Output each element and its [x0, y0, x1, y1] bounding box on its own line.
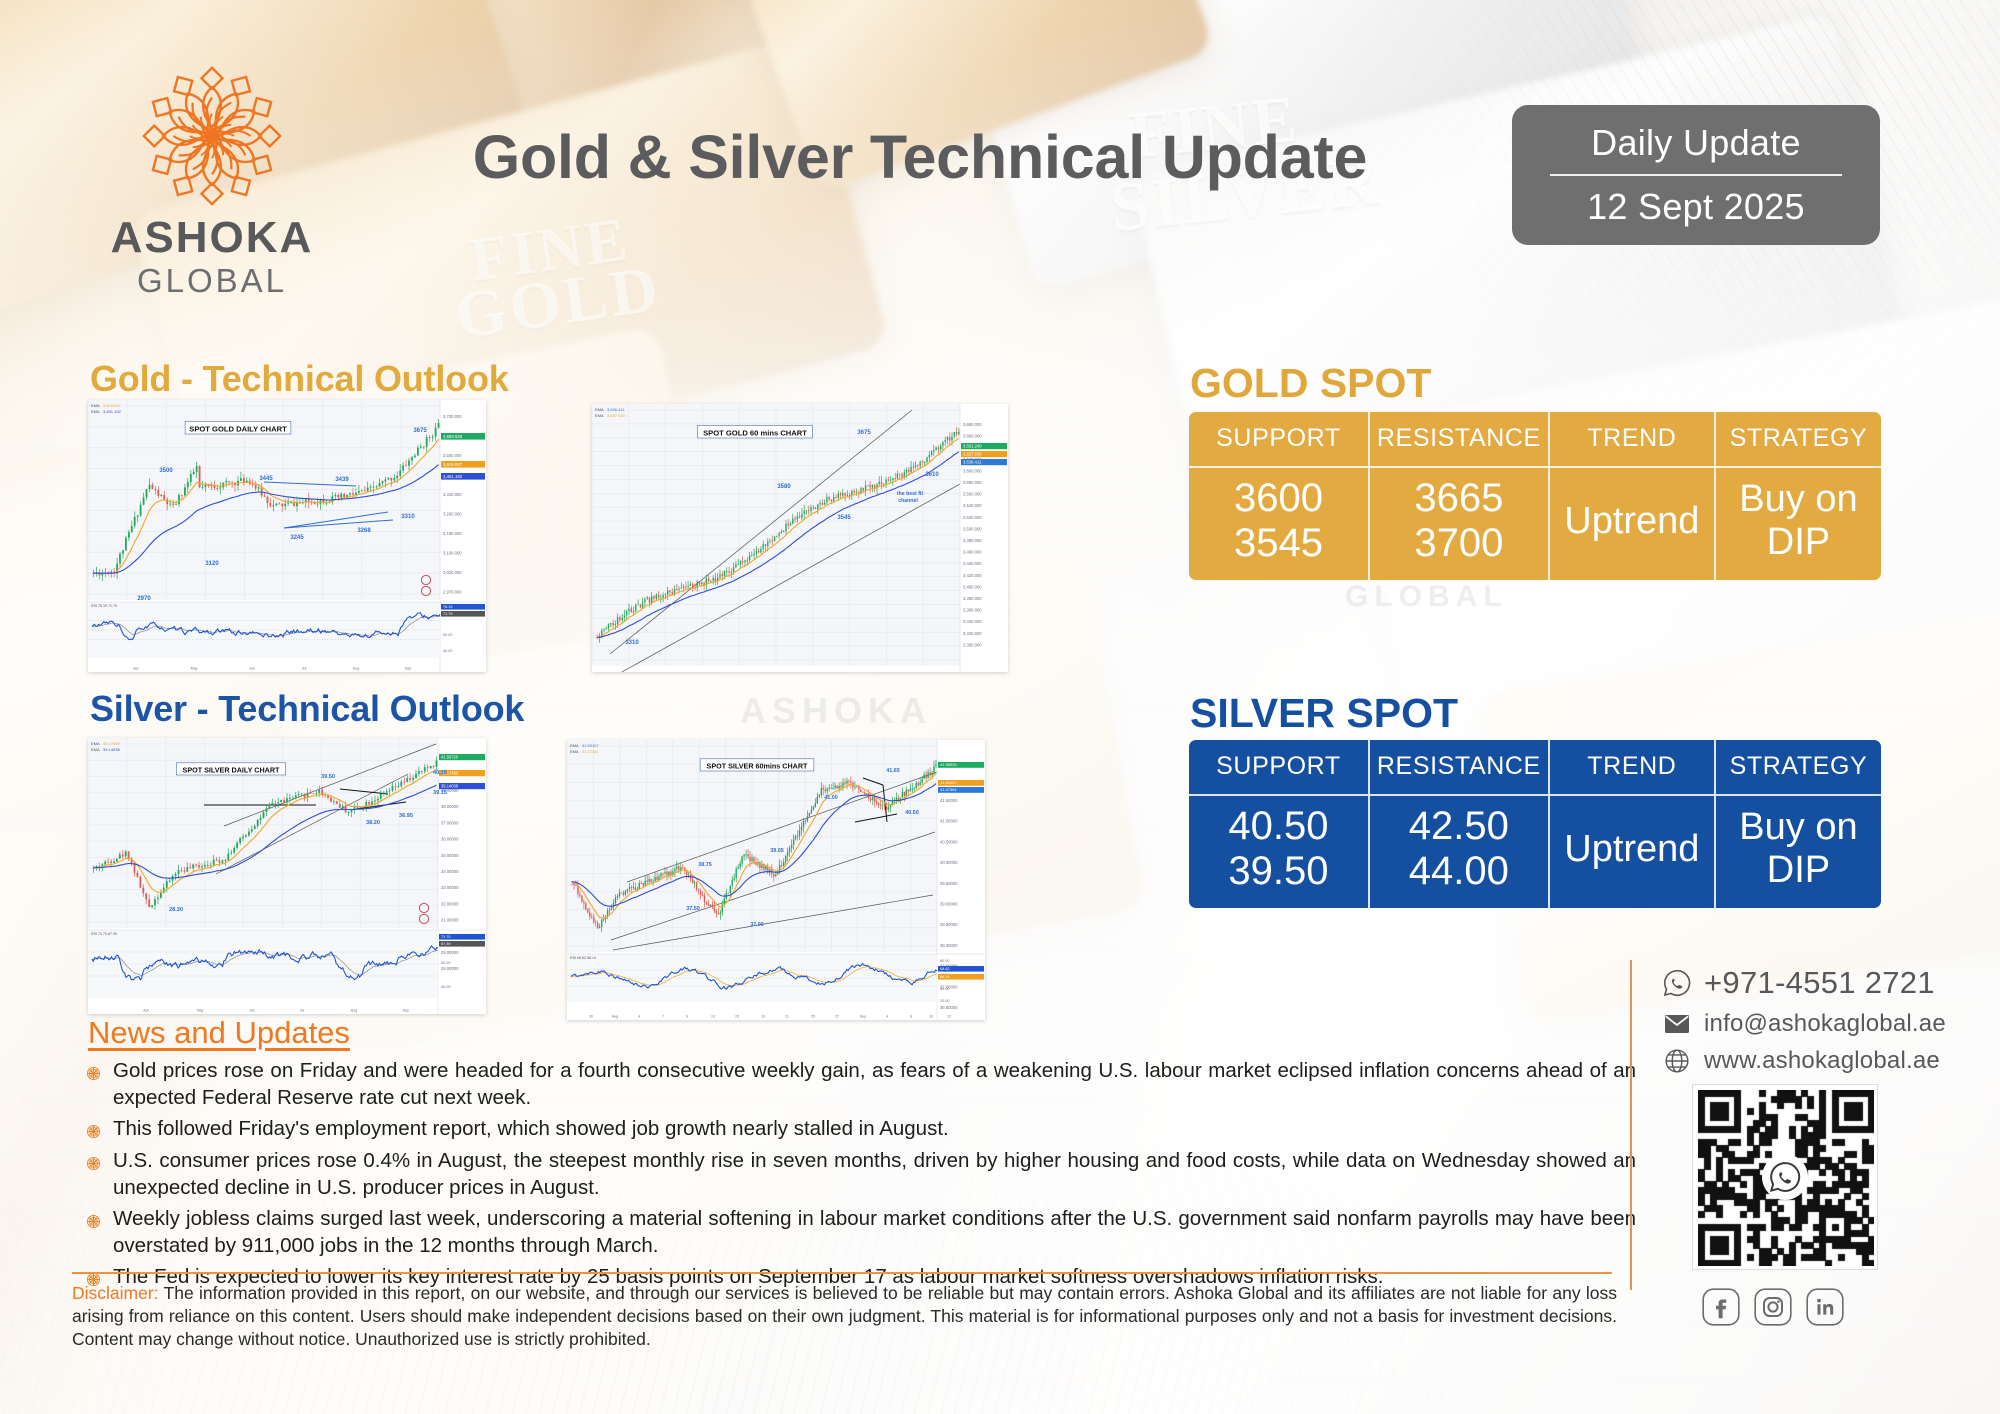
contact-website-row[interactable]: www.ashokaglobal.ae	[1660, 1047, 1990, 1075]
svg-text:40.00: 40.00	[940, 987, 950, 991]
svg-text:33.00000: 33.00000	[441, 885, 459, 890]
silver-spot-table: SUPPORT RESISTANCE TREND STRATEGY 40.50 …	[1189, 740, 1881, 908]
news-item-text: Weekly jobless claims surged last week, …	[113, 1206, 1636, 1259]
silver-resistance-cell: 42.50 44.00	[1369, 795, 1549, 908]
svg-text:Jul: Jul	[302, 667, 307, 671]
svg-text:32.00000: 32.00000	[441, 901, 459, 906]
envelope-icon	[1660, 1014, 1694, 1034]
table-header-row: SUPPORT RESISTANCE TREND STRATEGY	[1189, 740, 1881, 795]
svg-text:38.00000: 38.00000	[441, 804, 459, 809]
contact-panel: +971-4551 2721 info@ashokaglobal.ae www.…	[1660, 965, 1990, 1326]
badge-update-label: Daily Update	[1512, 122, 1880, 174]
svg-text:EMA: EMA	[570, 749, 579, 754]
svg-text:9: 9	[686, 1015, 688, 1019]
svg-text:40.50: 40.50	[905, 810, 919, 816]
svg-text:SPOT GOLD 60 mins CHART: SPOT GOLD 60 mins CHART	[703, 429, 807, 438]
svg-text:3,400.000: 3,400.000	[963, 584, 982, 589]
svg-text:38.75: 38.75	[698, 862, 712, 868]
svg-text:41.37361: 41.37361	[582, 749, 599, 754]
svg-text:27: 27	[835, 1015, 839, 1019]
bullet-icon	[86, 1214, 100, 1228]
svg-text:3,680.000: 3,680.000	[963, 422, 982, 427]
silver-support-2: 39.50	[1189, 849, 1368, 894]
news-item: This followed Friday's employment report…	[86, 1116, 1636, 1143]
svg-text:40.15: 40.15	[433, 770, 447, 776]
news-item-text: This followed Friday's employment report…	[113, 1116, 1636, 1143]
svg-text:3,580.000: 3,580.000	[963, 480, 982, 485]
svg-text:3,637.530: 3,637.530	[963, 452, 982, 457]
svg-text:3445: 3445	[259, 476, 273, 482]
svg-text:3,340.000: 3,340.000	[443, 492, 462, 497]
svg-text:Jun: Jun	[249, 667, 255, 671]
silver-trend-value: Uptrend	[1550, 828, 1714, 871]
svg-text:EMA: EMA	[91, 741, 100, 746]
svg-text:3610: 3610	[925, 472, 939, 478]
chart-silver-daily: 39.0000038.0000037.0000036.0000035.00000…	[88, 738, 486, 1014]
svg-text:36.50000: 36.50000	[940, 1005, 958, 1010]
gold-resistance-2: 3700	[1370, 521, 1548, 566]
svg-text:EMA: EMA	[570, 743, 579, 748]
svg-text:41.53107: 41.53107	[940, 780, 957, 785]
svg-text:37.50: 37.50	[686, 906, 700, 912]
brand-name: ASHOKA	[92, 216, 332, 261]
svg-text:Aug: Aug	[351, 1009, 357, 1013]
instagram-icon[interactable]	[1754, 1288, 1792, 1326]
svg-text:Sep: Sep	[403, 1009, 409, 1013]
contact-website: www.ashokaglobal.ae	[1704, 1047, 1940, 1075]
svg-text:31.00000: 31.00000	[441, 918, 459, 923]
svg-text:28.30: 28.30	[169, 907, 183, 913]
bullet-icon	[86, 1066, 100, 1080]
svg-text:41.00: 41.00	[824, 795, 838, 801]
svg-text:41.56720: 41.56720	[441, 755, 459, 760]
col-support: SUPPORT	[1189, 740, 1369, 795]
svg-text:SPOT SILVER 60mins CHART: SPOT SILVER 60mins CHART	[707, 762, 809, 771]
svg-text:13: 13	[711, 1015, 715, 1019]
svg-text:3,700.000: 3,700.000	[443, 414, 462, 419]
svg-text:20.00: 20.00	[940, 999, 950, 1003]
svg-text:2,970.000: 2,970.000	[443, 590, 462, 595]
svg-text:SPOT GOLD DAILY CHART: SPOT GOLD DAILY CHART	[189, 425, 287, 434]
gold-spot-table: SUPPORT RESISTANCE TREND STRATEGY 3600 3…	[1189, 412, 1881, 580]
svg-text:Aug: Aug	[353, 667, 359, 671]
contact-phone-row[interactable]: +971-4551 2721	[1660, 965, 1990, 1001]
svg-text:3120: 3120	[205, 561, 219, 567]
svg-text:3,560.000: 3,560.000	[963, 492, 982, 497]
svg-text:67.39: 67.39	[441, 942, 451, 946]
svg-text:Jun: Jun	[249, 1009, 255, 1013]
svg-text:41.50000: 41.50000	[940, 798, 958, 803]
svg-text:3,180.000: 3,180.000	[443, 531, 462, 536]
svg-text:Aug: Aug	[612, 1015, 618, 1019]
svg-text:71.70: 71.70	[441, 935, 451, 939]
svg-text:3,651.240: 3,651.240	[963, 444, 982, 449]
svg-text:3,451.192: 3,451.192	[443, 474, 463, 479]
svg-text:3,020.000: 3,020.000	[443, 570, 462, 575]
svg-text:3,650.525: 3,650.525	[443, 434, 463, 439]
silver-resistance-1: 42.50	[1370, 804, 1548, 849]
svg-text:76.19: 76.19	[443, 605, 453, 609]
table-header-row: SUPPORT RESISTANCE TREND STRATEGY	[1189, 412, 1881, 467]
badge-date: 12 Sept 2025	[1512, 176, 1880, 228]
svg-text:3,380.000: 3,380.000	[963, 596, 982, 601]
chart-gold-60min: 3,680.0003,660.0003,640.0003,620.0003,60…	[592, 404, 1008, 672]
silver-support-cell: 40.50 39.50	[1189, 795, 1369, 908]
svg-text:Apr: Apr	[133, 667, 139, 671]
svg-text:3,518.937: 3,518.937	[103, 403, 122, 408]
svg-text:41.53107: 41.53107	[582, 743, 599, 748]
col-support: SUPPORT	[1189, 412, 1369, 467]
silver-strategy-value: Buy on DIP	[1716, 806, 1881, 892]
col-resistance: RESISTANCE	[1369, 412, 1549, 467]
svg-text:3,460.000: 3,460.000	[963, 550, 982, 555]
svg-text:3,636.411: 3,636.411	[607, 407, 625, 412]
svg-text:SPOT SILVER DAILY CHART: SPOT SILVER DAILY CHART	[183, 766, 281, 775]
svg-text:39.50000: 39.50000	[940, 881, 958, 886]
svg-text:channel: channel	[898, 498, 918, 504]
contact-email-row[interactable]: info@ashokaglobal.ae	[1660, 1010, 1990, 1038]
svg-text:40.17490: 40.17490	[103, 741, 120, 746]
gold-support-2: 3545	[1189, 521, 1368, 566]
col-resistance: RESISTANCE	[1369, 740, 1549, 795]
svg-text:41.37361: 41.37361	[940, 787, 957, 792]
gold-strategy-value: Buy on DIP	[1716, 478, 1881, 564]
svg-text:3,340.000: 3,340.000	[963, 619, 982, 624]
silver-spot-heading: SILVER SPOT	[1190, 690, 1458, 737]
silver-resistance-2: 44.00	[1370, 849, 1548, 894]
svg-text:3,480.000: 3,480.000	[963, 538, 982, 543]
news-item: Weekly jobless claims surged last week, …	[86, 1206, 1636, 1259]
svg-text:38.50000: 38.50000	[940, 922, 958, 927]
svg-text:3268: 3268	[357, 528, 371, 534]
bullet-icon	[86, 1156, 100, 1170]
svg-text:RSI 71.70 67.39: RSI 71.70 67.39	[91, 932, 117, 936]
facebook-icon[interactable]	[1702, 1288, 1740, 1326]
mandala-icon	[138, 62, 286, 210]
svg-text:3,636.411: 3,636.411	[963, 460, 982, 465]
svg-text:41.65: 41.65	[886, 768, 900, 774]
svg-text:EMA: EMA	[595, 407, 604, 412]
svg-text:3,360.000: 3,360.000	[963, 608, 982, 613]
svg-text:3675: 3675	[413, 428, 427, 434]
svg-text:3,260.000: 3,260.000	[443, 512, 462, 517]
svg-text:3245: 3245	[290, 535, 304, 541]
linkedin-icon[interactable]	[1806, 1288, 1844, 1326]
svg-text:3,500.000: 3,500.000	[443, 453, 462, 458]
whatsapp-icon	[1660, 968, 1694, 998]
svg-text:3,520.000: 3,520.000	[963, 515, 982, 520]
gold-support-1: 3600	[1189, 476, 1368, 521]
svg-text:3545: 3545	[837, 515, 851, 521]
contact-email: info@ashokaglobal.ae	[1704, 1010, 1946, 1038]
svg-text:60.00: 60.00	[443, 633, 453, 637]
table-row: 40.50 39.50 42.50 44.00 Uptrend Buy on D…	[1189, 795, 1881, 908]
svg-text:60.00: 60.00	[441, 961, 451, 965]
col-strategy: STRATEGY	[1715, 412, 1881, 467]
col-trend: TREND	[1549, 740, 1715, 795]
svg-text:40.00: 40.00	[441, 985, 451, 989]
svg-text:37.00000: 37.00000	[441, 820, 459, 825]
news-item-text: Gold prices rose on Friday and were head…	[113, 1058, 1636, 1111]
svg-text:Jul: Jul	[300, 1009, 305, 1013]
gold-resistance-1: 3665	[1370, 476, 1548, 521]
svg-text:3,637.530: 3,637.530	[607, 413, 626, 418]
svg-text:3,500.000: 3,500.000	[963, 526, 982, 531]
svg-text:Sep: Sep	[860, 1015, 866, 1019]
news-item: U.S. consumer prices rose 0.4% in August…	[86, 1148, 1636, 1201]
gold-spot-heading: GOLD SPOT	[1190, 360, 1431, 407]
svg-text:71.79: 71.79	[443, 612, 453, 616]
svg-text:4: 4	[886, 1015, 888, 1019]
silver-outlook-heading: Silver - Technical Outlook	[90, 688, 524, 730]
globe-icon	[1660, 1048, 1694, 1074]
svg-text:40.50000: 40.50000	[940, 839, 958, 844]
gold-trend-cell: Uptrend	[1549, 467, 1715, 580]
svg-text:RSI 76.19 71.79: RSI 76.19 71.79	[91, 604, 117, 608]
svg-text:3580: 3580	[777, 484, 791, 490]
svg-text:the best fit: the best fit	[897, 491, 923, 497]
silver-support-1: 40.50	[1189, 804, 1368, 849]
svg-text:3,300.000: 3,300.000	[963, 642, 982, 647]
svg-text:10: 10	[929, 1015, 933, 1019]
news-heading: News and Updates	[88, 1015, 350, 1051]
svg-text:3,440.000: 3,440.000	[963, 561, 982, 566]
svg-text:39.14038: 39.14038	[441, 784, 459, 789]
svg-text:3500: 3500	[159, 468, 173, 474]
svg-text:2970: 2970	[137, 596, 151, 602]
svg-text:Sep: Sep	[405, 667, 411, 671]
bullet-icon	[86, 1124, 100, 1138]
svg-text:4: 4	[638, 1015, 640, 1019]
svg-text:EMA: EMA	[91, 747, 100, 752]
svg-text:7: 7	[662, 1015, 664, 1019]
qr-whatsapp-icon	[1762, 1154, 1808, 1200]
svg-text:8: 8	[910, 1015, 912, 1019]
news-list: Gold prices rose on Friday and were head…	[86, 1058, 1636, 1296]
brand-logo: ASHOKA GLOBAL	[92, 62, 332, 300]
svg-text:Apr: Apr	[143, 1009, 149, 1013]
svg-text:40.00: 40.00	[443, 649, 453, 653]
qr-code[interactable]	[1692, 1084, 1878, 1270]
svg-text:3675: 3675	[857, 430, 871, 436]
svg-text:40.00000: 40.00000	[940, 860, 958, 865]
svg-text:12: 12	[947, 1015, 951, 1019]
svg-text:39.00000: 39.00000	[940, 902, 958, 907]
silver-strategy-cell: Buy on DIP	[1715, 795, 1881, 908]
gold-support-cell: 3600 3545	[1189, 467, 1369, 580]
svg-text:41.96500: 41.96500	[940, 762, 957, 767]
svg-text:39.15: 39.15	[433, 790, 447, 796]
svg-text:39.05: 39.05	[770, 848, 784, 854]
svg-text:3,540.000: 3,540.000	[963, 503, 982, 508]
svg-text:May: May	[191, 667, 198, 671]
chart-gold-daily: 3,700.0003,600.0003,500.0003,420.0003,34…	[88, 400, 486, 672]
svg-text:EMA: EMA	[91, 403, 100, 408]
svg-text:28.00000: 28.00000	[441, 966, 459, 971]
disclaimer-text: The information provided in this report,…	[72, 1283, 1617, 1349]
contact-phone: +971-4551 2721	[1704, 965, 1935, 1001]
contact-divider	[1630, 960, 1632, 1290]
news-item: Gold prices rose on Friday and were head…	[86, 1058, 1636, 1111]
news-item-text: U.S. consumer prices rose 0.4% in August…	[113, 1148, 1636, 1201]
svg-text:80.00: 80.00	[940, 959, 950, 963]
svg-text:39.14038: 39.14038	[103, 747, 120, 752]
svg-text:21: 21	[785, 1015, 789, 1019]
svg-text:3439: 3439	[335, 477, 349, 483]
svg-text:15: 15	[735, 1015, 739, 1019]
svg-text:29.00000: 29.00000	[441, 950, 459, 955]
svg-text:3,660.000: 3,660.000	[963, 434, 982, 439]
svg-text:19: 19	[761, 1015, 765, 1019]
svg-text:EMA: EMA	[91, 409, 100, 414]
gold-trend-value: Uptrend	[1550, 500, 1714, 543]
svg-text:3310: 3310	[625, 640, 639, 646]
svg-text:EMA: EMA	[595, 413, 604, 418]
svg-text:3,451.192: 3,451.192	[103, 409, 122, 414]
svg-text:May: May	[197, 1009, 204, 1013]
svg-text:37.00: 37.00	[750, 922, 764, 928]
silver-trend-cell: Uptrend	[1549, 795, 1715, 908]
svg-text:35.00000: 35.00000	[441, 853, 459, 858]
disclaimer-label: Disclaimer:	[72, 1283, 159, 1303]
svg-text:3,600.000: 3,600.000	[963, 468, 982, 473]
svg-text:25: 25	[811, 1015, 815, 1019]
svg-text:RSI 68.62 66.14: RSI 68.62 66.14	[570, 956, 596, 960]
svg-text:34.00000: 34.00000	[441, 869, 459, 874]
svg-text:68.62: 68.62	[940, 967, 950, 971]
disclaimer-divider	[72, 1272, 1612, 1274]
page-title: Gold & Silver Technical Update	[330, 122, 1510, 192]
chart-silver-60min: 41.5000041.0000040.5000040.0000039.50000…	[567, 740, 985, 1020]
gold-strategy-cell: Buy on DIP	[1715, 467, 1881, 580]
disclaimer: Disclaimer: The information provided in …	[72, 1282, 1617, 1351]
svg-text:3,518.937: 3,518.937	[443, 462, 463, 467]
col-trend: TREND	[1549, 412, 1715, 467]
svg-text:38.00000: 38.00000	[940, 943, 958, 948]
col-strategy: STRATEGY	[1715, 740, 1881, 795]
table-row: 3600 3545 3665 3700 Uptrend Buy on DIP	[1189, 467, 1881, 580]
svg-text:36.00000: 36.00000	[441, 837, 459, 842]
svg-text:30: 30	[589, 1015, 593, 1019]
svg-text:66.14: 66.14	[940, 975, 950, 979]
date-badge: Daily Update 12 Sept 2025	[1512, 105, 1880, 245]
svg-text:3,100.000: 3,100.000	[443, 551, 462, 556]
gold-outlook-heading: Gold - Technical Outlook	[90, 358, 509, 400]
svg-text:3,320.000: 3,320.000	[963, 631, 982, 636]
svg-text:3310: 3310	[401, 514, 415, 520]
svg-text:41.00000: 41.00000	[940, 819, 958, 824]
social-links	[1702, 1288, 1990, 1326]
svg-text:38.20: 38.20	[366, 820, 380, 826]
svg-text:39.50: 39.50	[321, 774, 335, 780]
svg-text:3,420.000: 3,420.000	[963, 573, 982, 578]
brand-sub: GLOBAL	[92, 262, 332, 300]
svg-text:36.95: 36.95	[399, 813, 413, 819]
gold-resistance-cell: 3665 3700	[1369, 467, 1549, 580]
